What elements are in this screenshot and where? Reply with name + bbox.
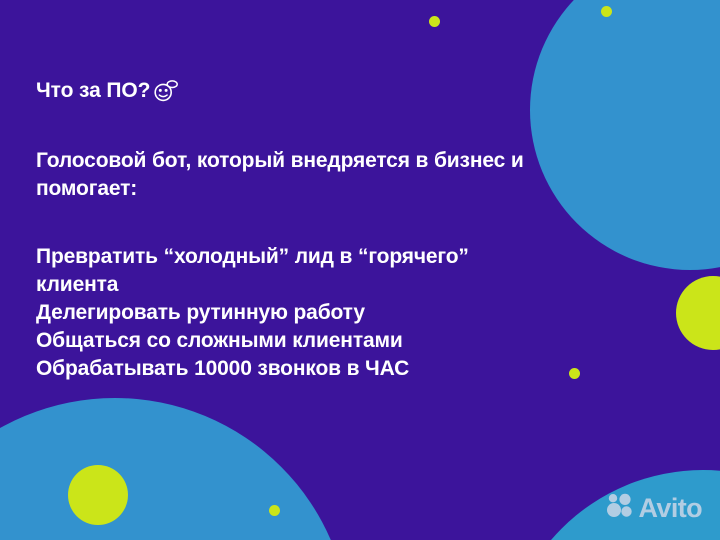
avito-dots-logo bbox=[606, 493, 634, 524]
benefits-list: Превратить “холодный” лид в “горячего” к… bbox=[36, 243, 636, 383]
blue-circle-bottom-left bbox=[0, 398, 350, 540]
speaking-face-emoji bbox=[153, 79, 179, 103]
yellow-dot-top-left-of-circle bbox=[429, 16, 440, 27]
slide-content: Что за ПО? Голосовой бот, который внедря… bbox=[36, 78, 636, 383]
yellow-circle-bottom-left bbox=[68, 465, 128, 525]
yellow-dot-top-on-blue bbox=[601, 6, 612, 17]
list-item: Делегировать рутинную работу bbox=[36, 299, 556, 327]
page-title: Что за ПО? bbox=[36, 78, 636, 103]
avito-watermark: Avito bbox=[606, 493, 703, 524]
yellow-dot-bottom-center bbox=[269, 505, 280, 516]
yellow-circle-right-edge bbox=[676, 276, 720, 350]
avito-watermark-label: Avito bbox=[639, 495, 703, 522]
list-item: Превратить “холодный” лид в “горячего” к… bbox=[36, 243, 556, 299]
promo-slide: Что за ПО? Голосовой бот, который внедря… bbox=[0, 0, 720, 540]
list-item: Обрабатывать 10000 звонков в ЧАС bbox=[36, 355, 556, 383]
list-item: Общаться со сложными клиентами bbox=[36, 327, 556, 355]
page-title-text: Что за ПО? bbox=[36, 78, 150, 103]
lead-paragraph: Голосовой бот, который внедряется в бизн… bbox=[36, 147, 576, 203]
